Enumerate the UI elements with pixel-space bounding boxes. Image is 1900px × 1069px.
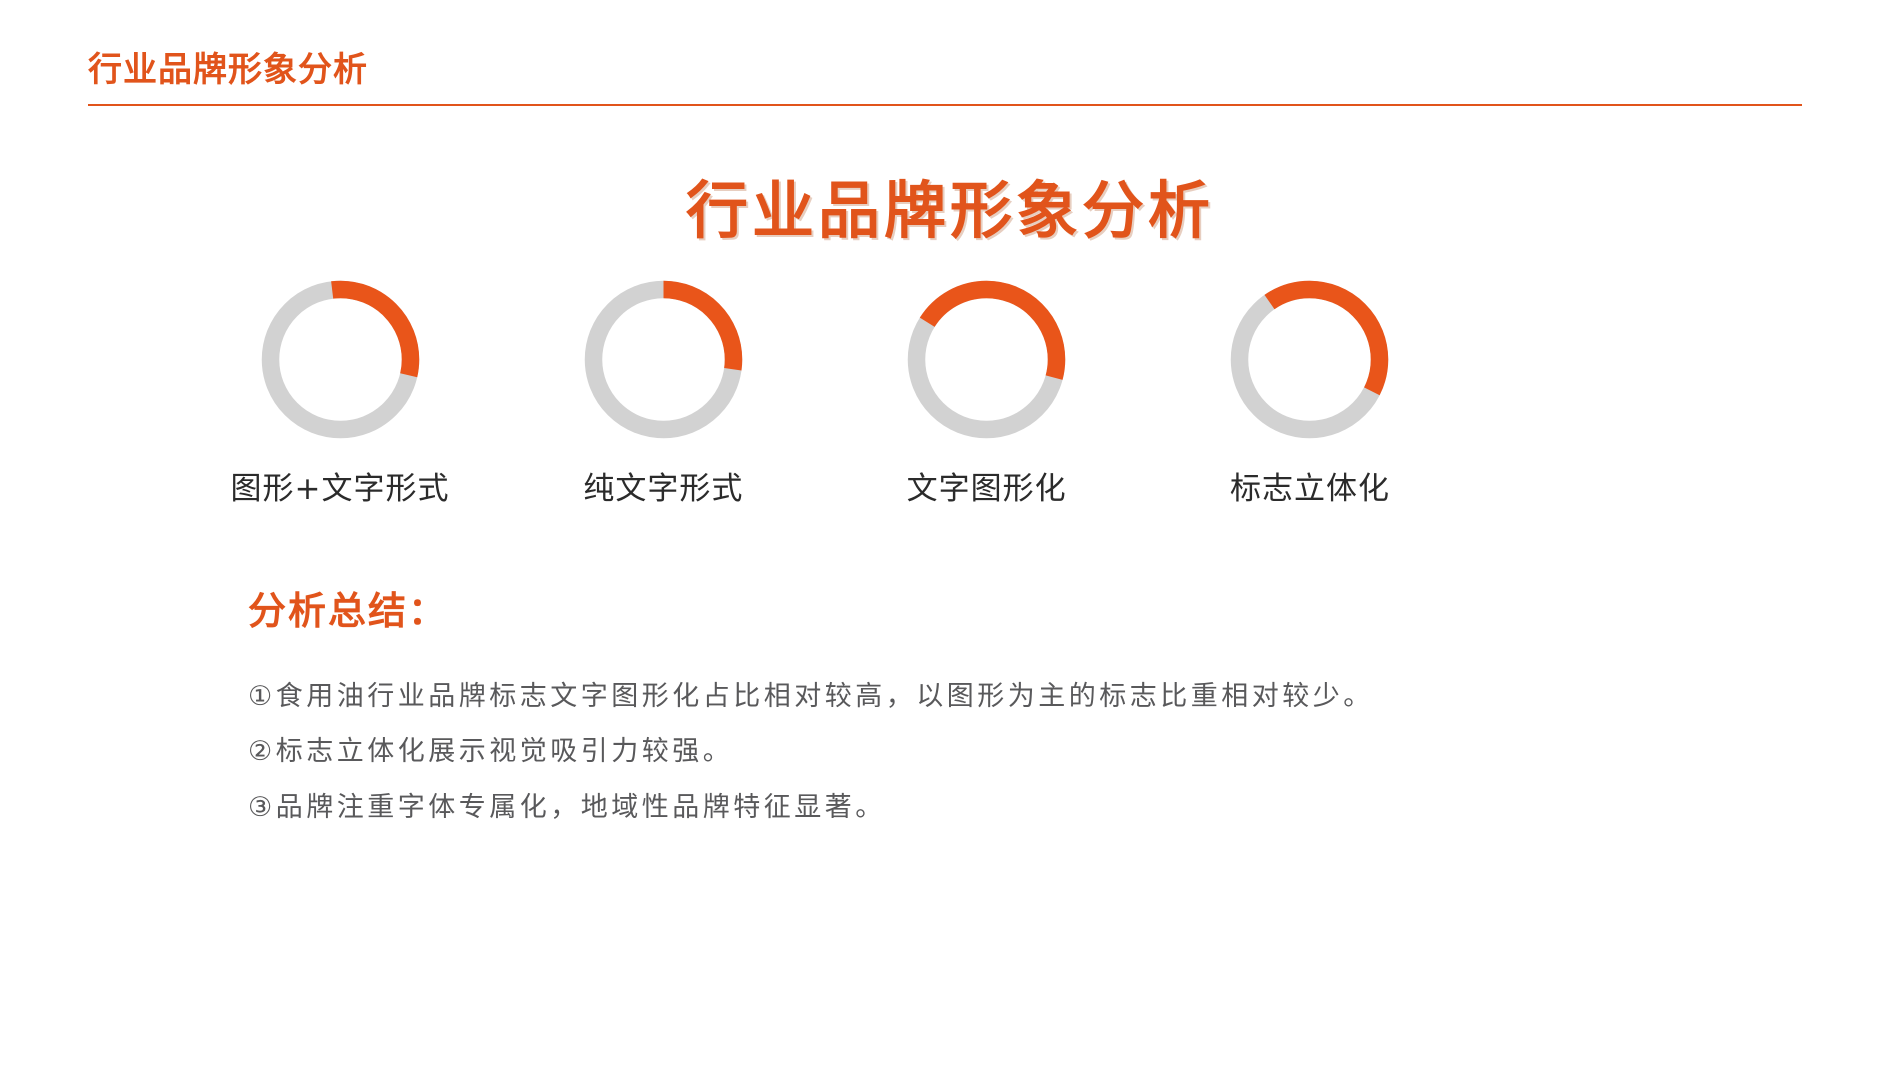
donut-label-1: 纯文字形式 <box>583 463 743 508</box>
donut-label-2: 文字图形化 <box>907 463 1067 508</box>
summary-line-1: ①食用油行业品牌标志文字图形化占比相对较高，以图形为主的标志比重相对较少。 <box>248 669 1668 724</box>
donut-chart-0 <box>253 272 428 447</box>
slide-header: 行业品牌形象分析 <box>0 0 1900 110</box>
header-title: 行业品牌形象分析 <box>88 42 368 91</box>
donut-label-0: 图形+文字形式 <box>231 463 450 508</box>
donut-chart-2 <box>899 272 1074 447</box>
donut-item-1: 纯文字形式 <box>523 272 803 508</box>
donut-chart-3 <box>1222 272 1397 447</box>
donut-chart-1 <box>576 272 751 447</box>
summary-line-3: ③品牌注重字体专属化，地域性品牌特征显著。 <box>248 780 1668 835</box>
slide-root: { "header": { "title": "行业品牌形象分析", "acce… <box>0 0 1900 1069</box>
header-divider <box>88 104 1802 106</box>
analysis-summary: 分析总结： ①食用油行业品牌标志文字图形化占比相对较高，以图形为主的标志比重相对… <box>248 580 1668 835</box>
page-title: 行业品牌形象分析 <box>0 160 1900 250</box>
donut-item-2: 文字图形化 <box>847 272 1127 508</box>
summary-heading: 分析总结： <box>248 580 1668 635</box>
donut-chart-row: 图形+文字形式 纯文字形式 文字图形化 标志立体化 <box>200 272 1450 508</box>
donut-item-3: 标志立体化 <box>1170 272 1450 508</box>
donut-label-3: 标志立体化 <box>1230 463 1390 508</box>
donut-item-0: 图形+文字形式 <box>200 272 480 508</box>
summary-line-2: ②标志立体化展示视觉吸引力较强。 <box>248 724 1668 779</box>
